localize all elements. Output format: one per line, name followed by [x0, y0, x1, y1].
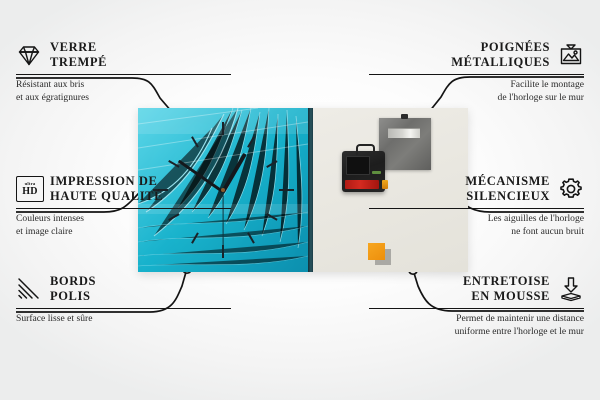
feature-header: ultra HD IMPRESSION DE HAUTE QUALITÉ	[16, 174, 231, 205]
gear-icon	[558, 176, 584, 202]
clock-tick	[222, 122, 224, 135]
feature-description: Couleurs intenses et image claire	[16, 213, 231, 239]
infographic-canvas: VERRE TREMPÉ Résistant aux bris et aux é…	[0, 0, 600, 400]
feature-title: POIGNÉES MÉTALLIQUES	[451, 40, 550, 71]
feature-description: Résistant aux bris et aux égratignures	[16, 79, 231, 105]
feature-description: Facilite le montage de l'horloge sur le …	[369, 79, 584, 105]
feature-header: POIGNÉES MÉTALLIQUES	[369, 40, 584, 71]
feature-divider	[369, 74, 584, 76]
clock-tick	[279, 189, 294, 191]
feature-bords-polis: BORDS POLIS Surface lisse et sûre	[16, 274, 231, 326]
metal-hanger-plate	[379, 118, 431, 170]
feature-mecanisme-silencieux: MÉCANISME SILENCIEUX Les aiguilles de l'…	[369, 174, 584, 239]
movement-hanger-tab	[356, 144, 375, 155]
feature-entretoise-en-mousse: ENTRETOISE EN MOUSSE Permet de maintenir…	[369, 274, 584, 339]
feature-divider	[16, 74, 231, 76]
feature-header: BORDS POLIS	[16, 274, 231, 305]
clock-center-dot	[221, 188, 225, 192]
feature-divider	[16, 208, 231, 210]
ultra-hd-main-label: HD	[22, 187, 37, 197]
feature-poignees-metalliques: POIGNÉES MÉTALLIQUES Facilite le montage…	[369, 40, 584, 105]
feature-title: BORDS POLIS	[50, 274, 96, 305]
hanger-nail	[401, 114, 408, 119]
feature-title: IMPRESSION DE HAUTE QUALITÉ	[50, 174, 163, 205]
polished-edge-icon	[16, 276, 42, 302]
feature-header: MÉCANISME SILENCIEUX	[369, 174, 584, 205]
hanger-slot	[388, 128, 420, 138]
feature-divider	[369, 208, 584, 210]
picture-frame-hanger-icon	[558, 42, 584, 68]
feature-title: VERRE TREMPÉ	[50, 40, 107, 71]
orange-foam-spacer	[368, 243, 385, 260]
feature-divider	[369, 308, 584, 310]
feature-verre-trempe: VERRE TREMPÉ Résistant aux bris et aux é…	[16, 40, 231, 105]
diamond-icon	[16, 42, 42, 68]
feature-header: ENTRETOISE EN MOUSSE	[369, 274, 584, 305]
feature-divider	[16, 308, 231, 310]
feature-title: ENTRETOISE EN MOUSSE	[463, 274, 550, 305]
feature-description: Surface lisse et sûre	[16, 313, 231, 326]
feature-title: MÉCANISME SILENCIEUX	[465, 174, 550, 205]
feature-header: VERRE TREMPÉ	[16, 40, 231, 71]
foam-spacer-icon	[558, 276, 584, 302]
feature-description: Permet de maintenir une distance uniform…	[369, 313, 584, 339]
movement-panel	[346, 156, 370, 175]
ultra-hd-icon: ultra HD	[16, 176, 42, 202]
feature-description: Les aiguilles de l'horloge ne font aucun…	[369, 213, 584, 239]
feature-impression-haute-qualite: ultra HD IMPRESSION DE HAUTE QUALITÉ Cou…	[16, 174, 231, 239]
